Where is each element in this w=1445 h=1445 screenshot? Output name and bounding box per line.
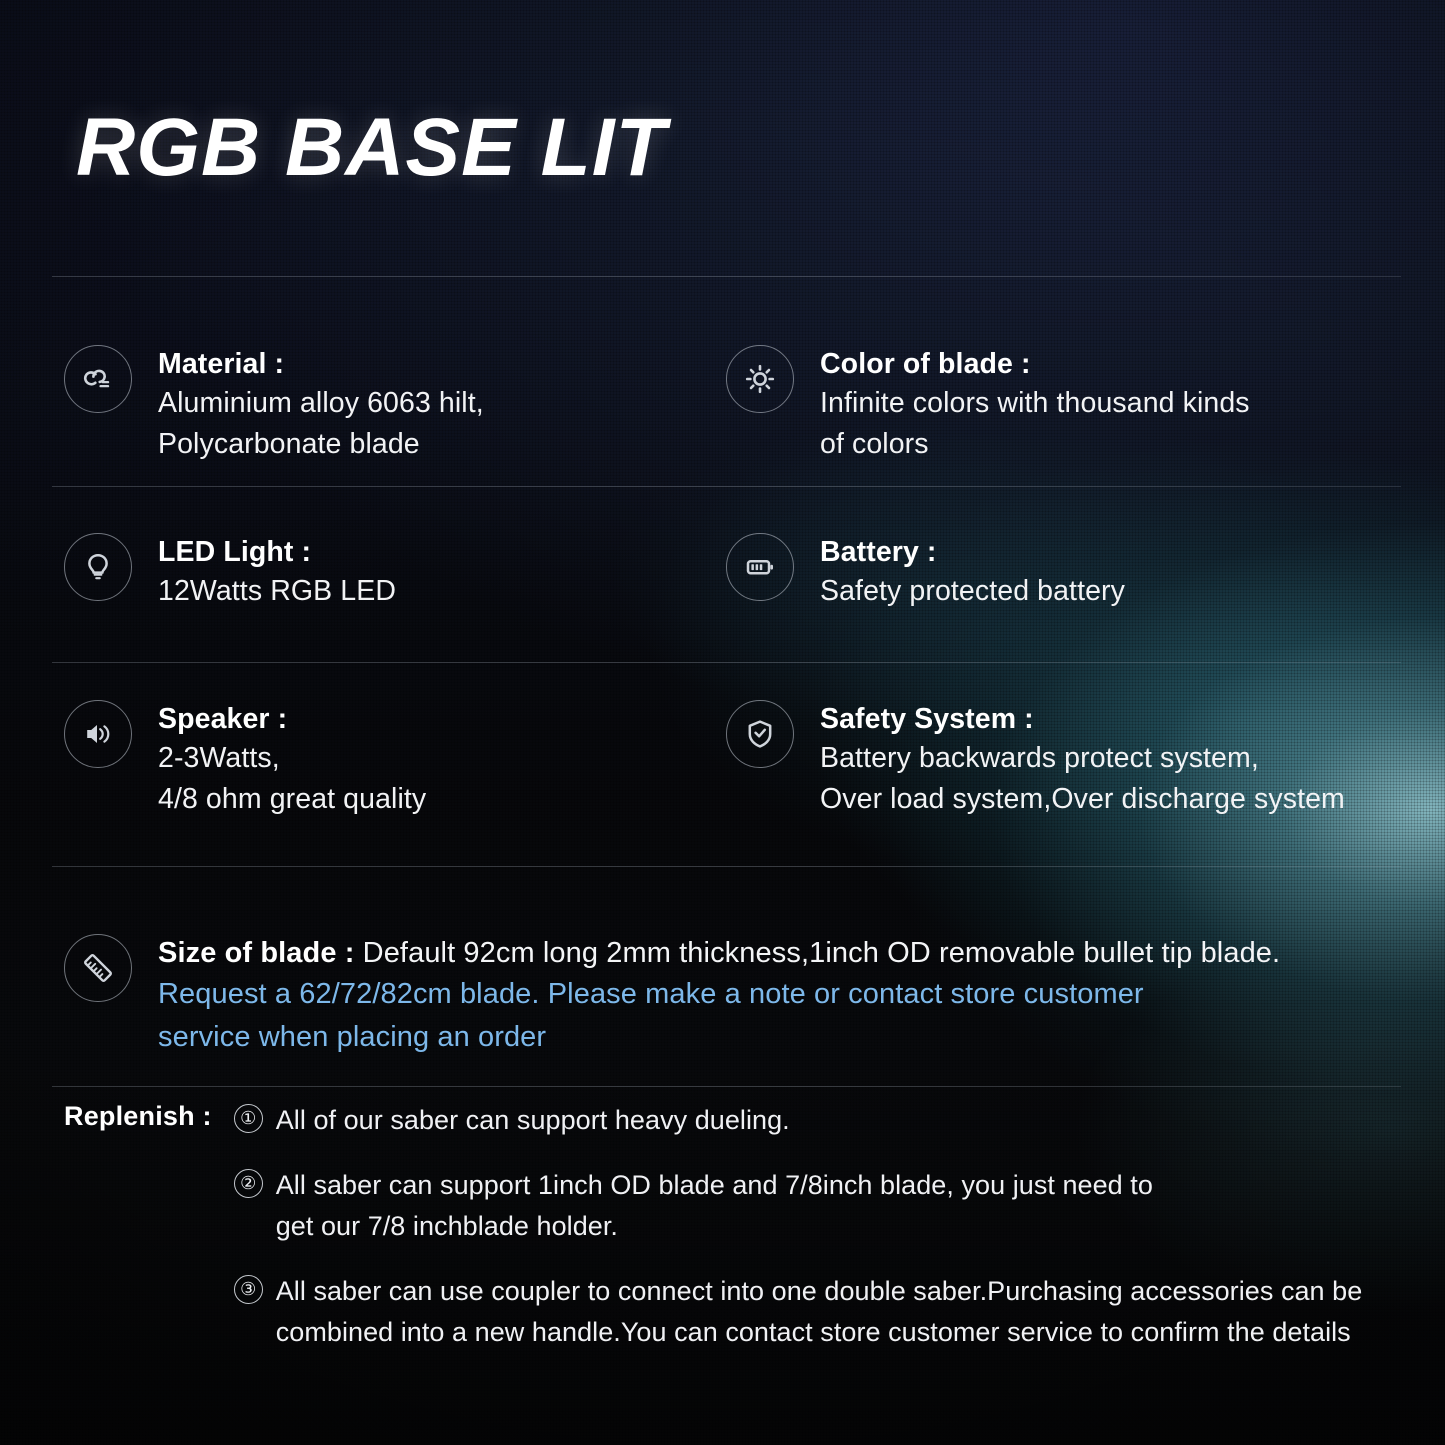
product-spec-banner: RGB BASE LIT Material : Aluminium alloy …	[0, 0, 1445, 1445]
list-item: ③ All saber can use coupler to connect i…	[234, 1271, 1424, 1353]
replenish-section: Replenish : ① All of our saber can suppo…	[64, 1100, 1424, 1353]
lightbulb-icon	[64, 533, 132, 601]
list-item-text: All of our saber can support heavy dueli…	[276, 1100, 790, 1141]
page-title: RGB BASE LIT	[76, 101, 667, 195]
spec-value: Battery backwards protect system, Over l…	[820, 738, 1345, 820]
spec-value: 12Watts RGB LED	[158, 571, 396, 612]
replenish-list: ① All of our saber can support heavy due…	[234, 1100, 1424, 1353]
spec-item-safety-system: Safety System : Battery backwards protec…	[726, 700, 1345, 820]
spec-item-led-light: LED Light : 12Watts RGB LED	[64, 533, 396, 612]
list-item-text: All saber can use coupler to connect int…	[276, 1271, 1363, 1353]
spec-label: Battery :	[820, 534, 1125, 571]
ruler-icon	[64, 934, 132, 1002]
divider-2	[52, 486, 1401, 487]
spec-item-speaker: Speaker : 2-3Watts, 4/8 ohm great qualit…	[64, 700, 426, 820]
divider-5	[52, 1086, 1401, 1087]
size-of-blade-line: Size of blade : Default 92cm long 2mm th…	[158, 934, 1280, 973]
replenish-heading: Replenish :	[64, 1100, 212, 1132]
spec-item-color-of-blade: Color of blade : Infinite colors with th…	[726, 345, 1250, 465]
divider-1	[52, 276, 1401, 277]
brightness-icon	[726, 345, 794, 413]
divider-3	[52, 662, 1401, 663]
spec-label: LED Light :	[158, 534, 396, 571]
list-item-number: ③	[234, 1275, 263, 1304]
spec-label: Material :	[158, 346, 484, 383]
link-icon	[64, 345, 132, 413]
divider-4	[52, 866, 1401, 867]
spec-label: Color of blade :	[820, 346, 1250, 383]
spec-item-size-of-blade: Size of blade : Default 92cm long 2mm th…	[64, 934, 1280, 1058]
speaker-icon	[64, 700, 132, 768]
list-item: ① All of our saber can support heavy due…	[234, 1100, 1424, 1141]
spec-value: 2-3Watts, 4/8 ohm great quality	[158, 738, 426, 820]
spec-label: Speaker :	[158, 701, 426, 738]
list-item-number: ①	[234, 1104, 263, 1133]
size-of-blade-value: Default 92cm long 2mm thickness,1inch OD…	[363, 937, 1281, 969]
list-item-number: ②	[234, 1169, 263, 1198]
spec-label: Safety System :	[820, 701, 1345, 738]
size-of-blade-note: Request a 62/72/82cm blade. Please make …	[158, 973, 1280, 1058]
spec-value: Infinite colors with thousand kinds of c…	[820, 383, 1250, 465]
shield-check-icon	[726, 700, 794, 768]
spec-value: Aluminium alloy 6063 hilt, Polycarbonate…	[158, 383, 484, 465]
list-item-text: All saber can support 1inch OD blade and…	[276, 1165, 1153, 1247]
spec-item-battery: Battery : Safety protected battery	[726, 533, 1125, 612]
spec-item-material: Material : Aluminium alloy 6063 hilt, Po…	[64, 345, 484, 465]
battery-icon	[726, 533, 794, 601]
list-item: ② All saber can support 1inch OD blade a…	[234, 1165, 1424, 1247]
size-of-blade-label: Size of blade :	[158, 937, 354, 969]
spec-value: Safety protected battery	[820, 571, 1125, 612]
